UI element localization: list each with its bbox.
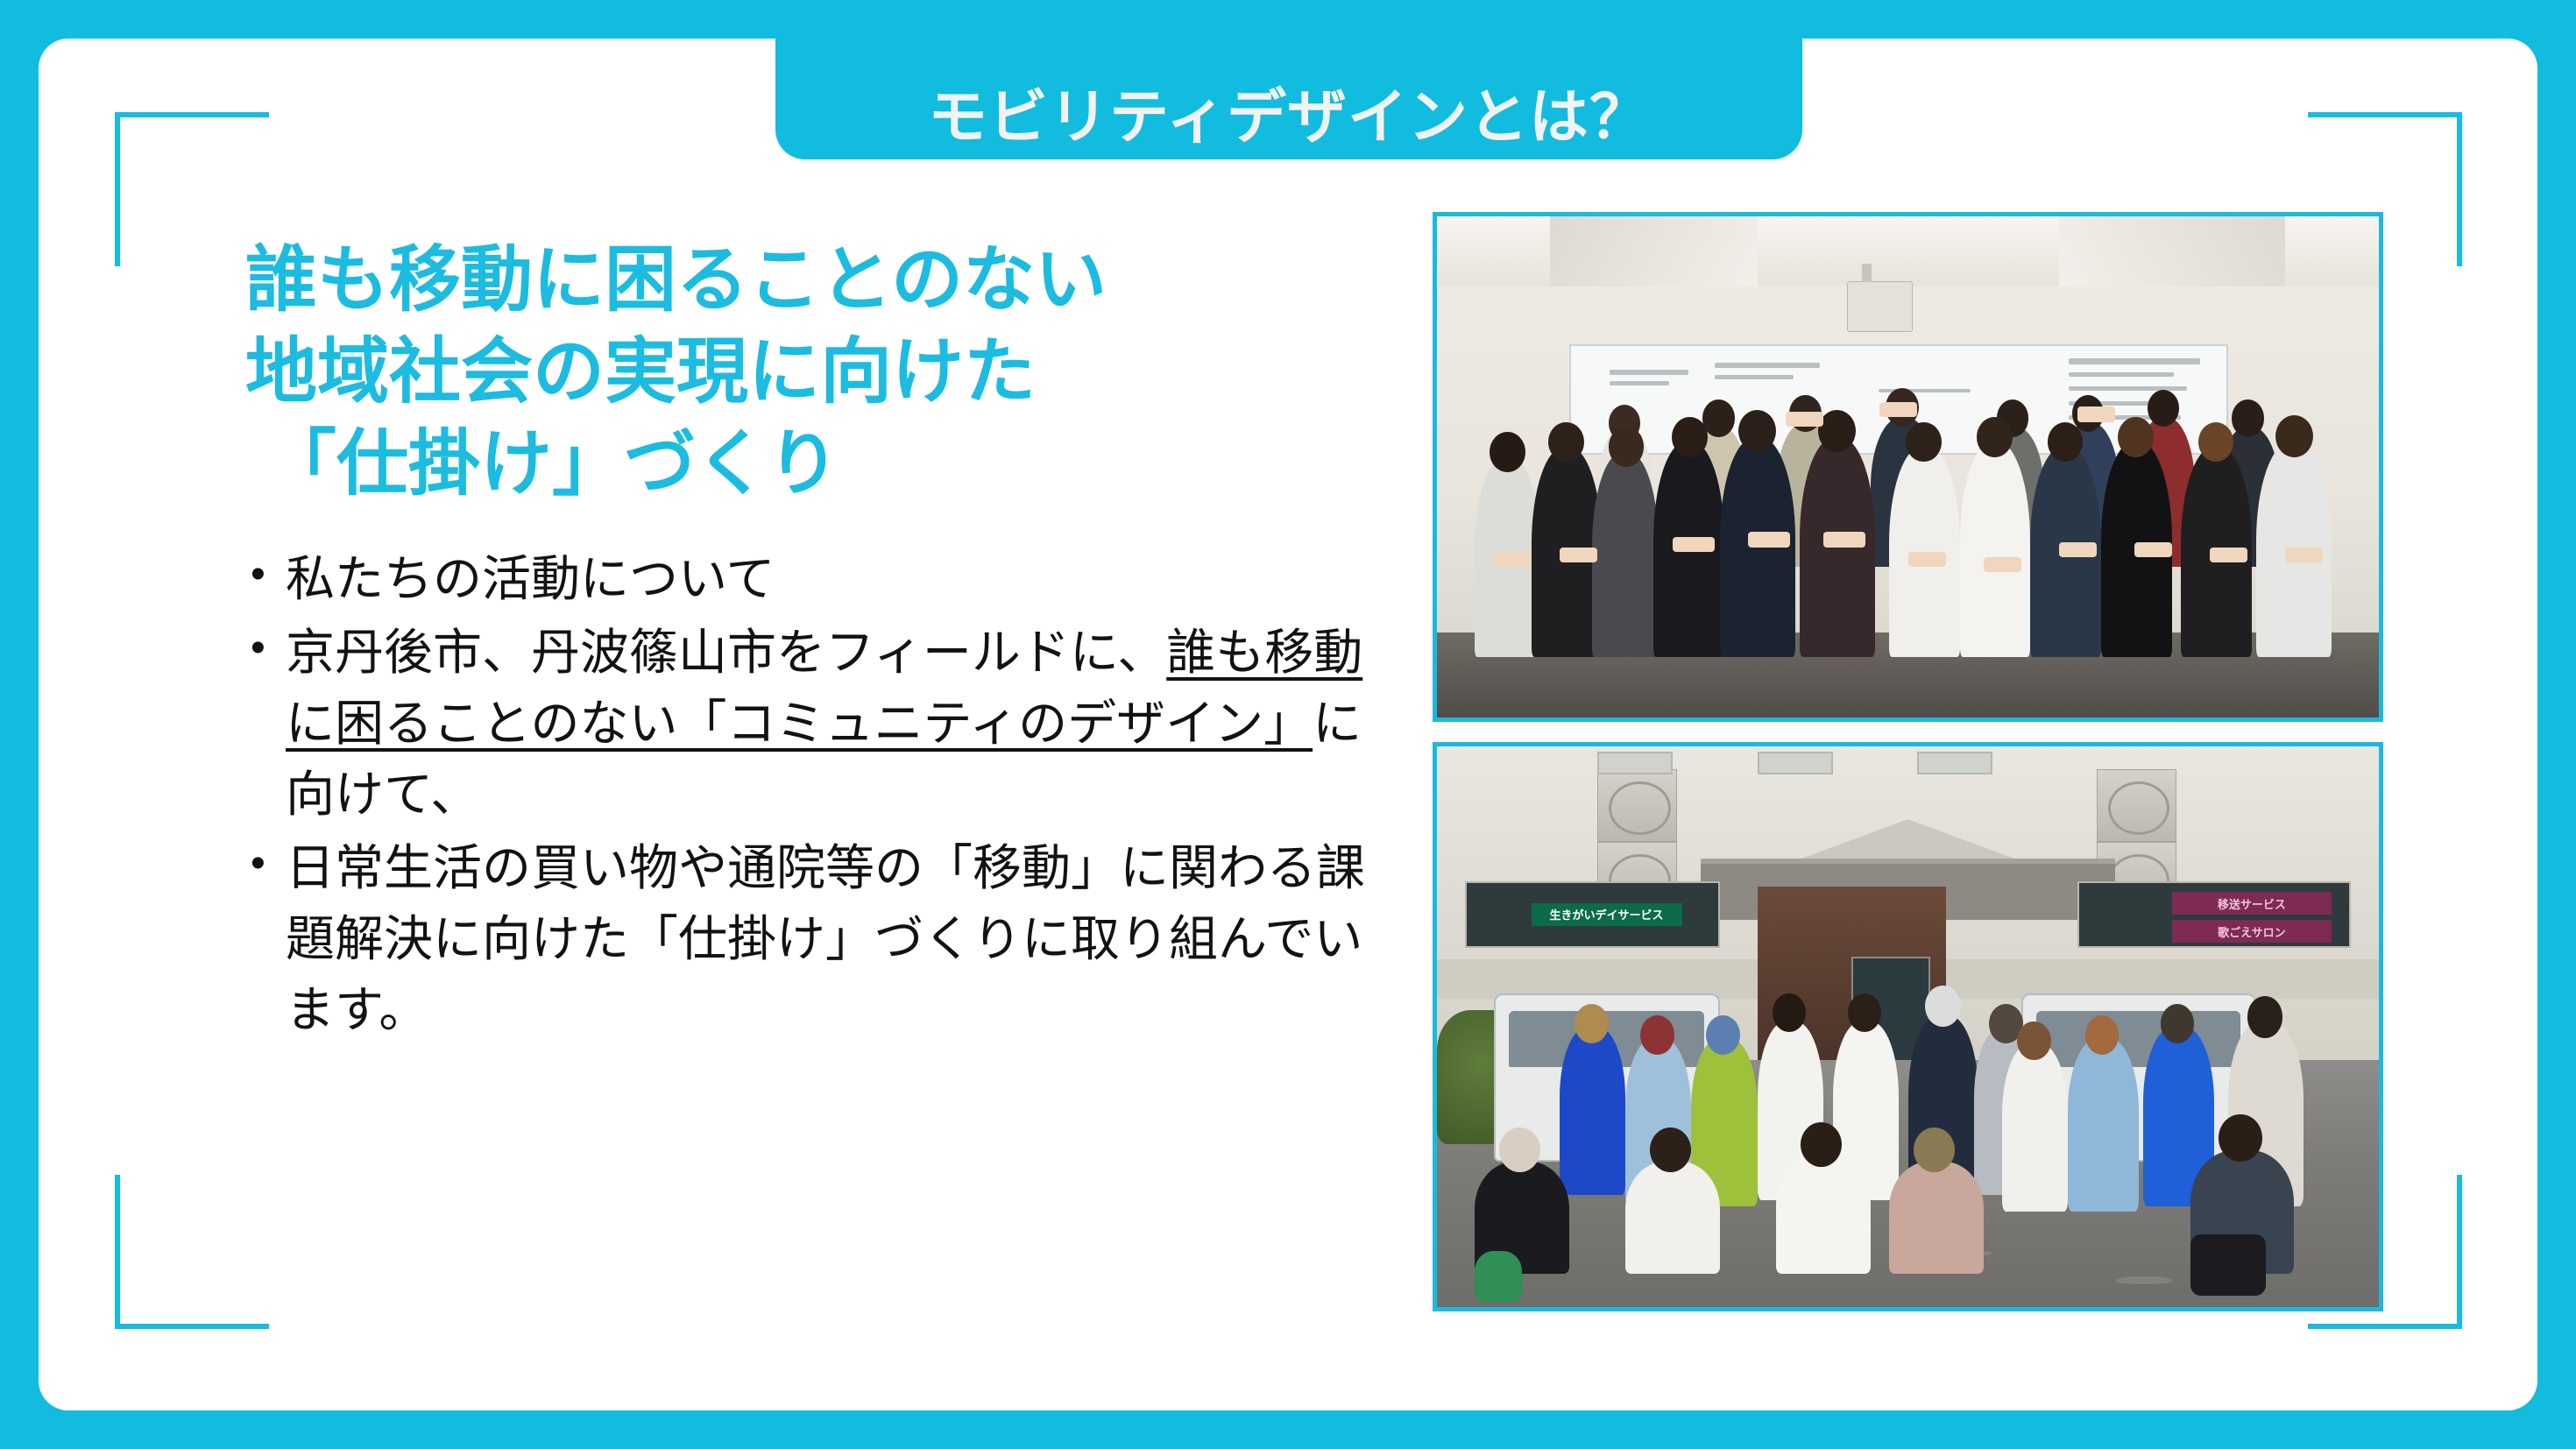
group-photo-community-center: 生きがいデイサービス 移送サービス 歌ごえサロン [1433, 742, 2383, 1311]
sign-transport-service: 移送サービス [2172, 892, 2332, 915]
left-content-column: 誰も移動に困ることのない 地域社会の実現に向けた 「仕掛け」づくり 私たちの活動… [245, 235, 1376, 1049]
bullet-list: 私たちの活動について 京丹後市、丹波篠山市をフィールドに、誰も移動に困ることのな… [245, 544, 1376, 1045]
list-item: 京丹後市、丹波篠山市をフィールドに、誰も移動に困ることのない「コミュニティのデザ… [245, 618, 1376, 830]
group-photo-classroom [1433, 212, 2383, 722]
bullet-text: 私たちの活動について [286, 551, 775, 606]
headline: 誰も移動に困ることのない 地域社会の実現に向けた 「仕掛け」づくり [245, 235, 1376, 511]
sign-ikigai-day-service: 生きがいデイサービス [1532, 903, 1682, 926]
corner-bracket-bottom-left [115, 1175, 269, 1329]
list-item: 私たちの活動について [245, 544, 1376, 615]
headline-line-2: 地域社会の実現に向けた [245, 327, 1376, 419]
bullet-text: 日常生活の買い物や通院等の「移動」に関わる課題解決に向けた「仕掛け」づくりに取り… [286, 840, 1365, 1036]
list-item: 日常生活の買い物や通院等の「移動」に関わる課題解決に向けた「仕掛け」づくりに取り… [245, 833, 1376, 1045]
bullet-text: 京丹後市、丹波篠山市をフィールドに、 [286, 625, 1166, 680]
slide-title-banner: モビリティデザインとは？ [775, 0, 1802, 159]
slide-title-text: モビリティデザインとは？ [928, 88, 1650, 147]
headline-line-3: 「仕掛け」づくり [245, 419, 1376, 511]
headline-line-1: 誰も移動に困ることのない [245, 235, 1376, 327]
slide-root: モビリティデザインとは？ 誰も移動に困ることのない 地域社会の実現に向けた 「仕… [0, 0, 2576, 1449]
sign-singing-salon: 歌ごえサロン [2172, 920, 2332, 943]
